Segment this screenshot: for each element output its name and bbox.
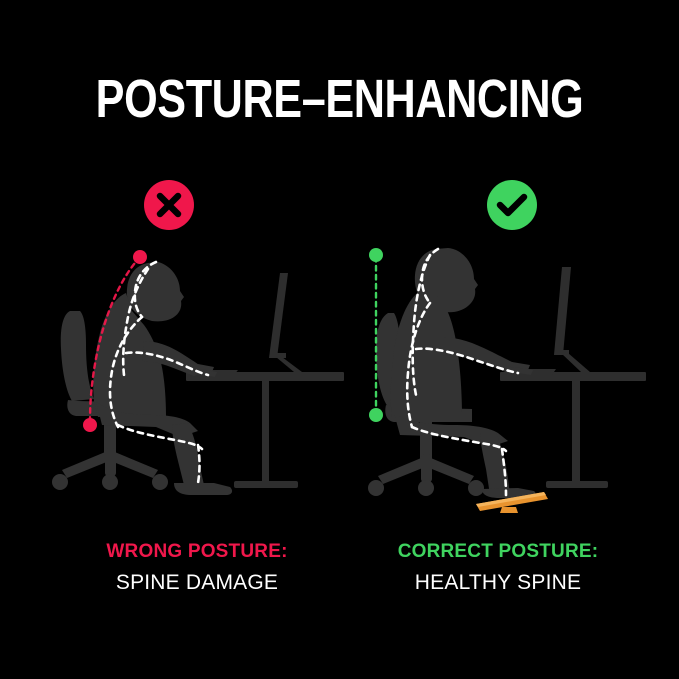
spine-guide-dot-bottom <box>369 408 383 422</box>
illustration-correct-posture <box>350 245 646 513</box>
spine-guide-dot-bottom <box>83 418 97 432</box>
spine-guide-dot-top <box>133 250 147 264</box>
caption-wrong-heading: WRONG POSTURE: <box>47 540 347 564</box>
spine-guide-dot-top <box>369 248 383 262</box>
monitor <box>554 267 590 372</box>
caption-correct-heading: CORRECT POSTURE: <box>348 540 648 564</box>
posture-infographic: POSTURE–ENHANCING <box>0 0 679 679</box>
page-title: POSTURE–ENHANCING <box>68 72 611 126</box>
desk <box>500 372 646 488</box>
monitor <box>269 273 302 372</box>
status-badge-wrong <box>144 180 194 230</box>
caption-correct-subtext: HEALTHY SPINE <box>348 569 648 596</box>
desk <box>186 372 344 488</box>
check-icon <box>487 180 537 230</box>
caption-wrong-subtext: SPINE DAMAGE <box>47 569 347 596</box>
status-badge-correct <box>487 180 537 230</box>
cross-icon <box>144 180 194 230</box>
caption-wrong-posture: WRONG POSTURE: SPINE DAMAGE <box>47 540 347 596</box>
illustration-wrong-posture <box>48 245 344 513</box>
caption-correct-posture: CORRECT POSTURE: HEALTHY SPINE <box>348 540 648 596</box>
